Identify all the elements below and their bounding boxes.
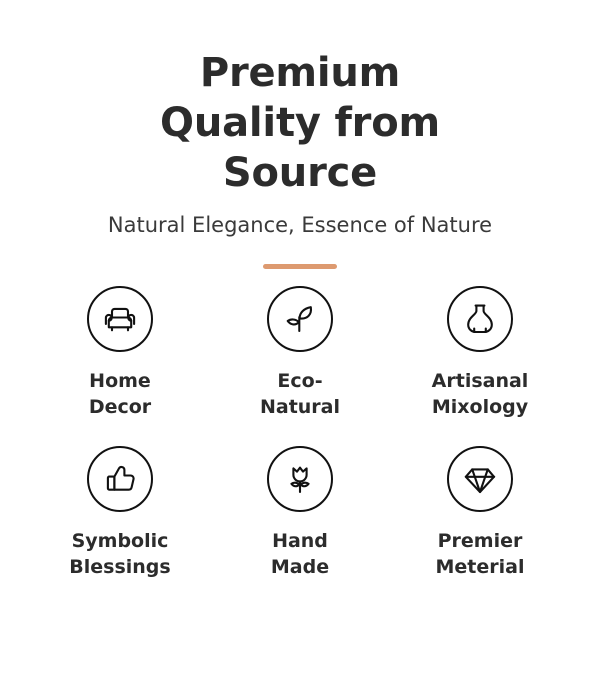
feature-label-line-2: Meterial <box>405 554 555 580</box>
feature-label-line-2: Blessings <box>45 554 195 580</box>
feature-label-line-2: Mixology <box>405 394 555 420</box>
feature-label-line-1: Home <box>45 368 195 394</box>
feature-item-hand-made: Hand Made <box>210 446 390 580</box>
page-subtitle: Natural Elegance, Essence of Nature <box>40 212 560 238</box>
sprout-leaf-icon <box>267 286 333 352</box>
feature-label-line-1: Artisanal <box>405 368 555 394</box>
feature-label-line-2: Decor <box>45 394 195 420</box>
feature-item-artisanal-mixology: Artisanal Mixology <box>390 286 570 420</box>
feature-label-line-1: Premier <box>405 528 555 554</box>
feature-label-line-2: Made <box>225 554 375 580</box>
tulip-flower-icon <box>267 446 333 512</box>
feature-label-line-1: Eco- <box>225 368 375 394</box>
feature-grid: Home Decor Eco- Natural <box>30 286 570 580</box>
headline-line-1: Premium <box>90 48 510 98</box>
headline-line-3: Source <box>90 148 510 198</box>
feature-label-line-1: Hand <box>225 528 375 554</box>
thumbs-up-icon <box>87 446 153 512</box>
feature-label-line-2: Natural <box>225 394 375 420</box>
diamond-gem-icon <box>447 446 513 512</box>
feature-label: Premier Meterial <box>405 528 555 580</box>
feature-label: Artisanal Mixology <box>405 368 555 420</box>
feature-item-home-decor: Home Decor <box>30 286 210 420</box>
accent-divider <box>263 264 337 269</box>
feature-item-eco-natural: Eco- Natural <box>210 286 390 420</box>
feature-label: Hand Made <box>225 528 375 580</box>
feature-label: Home Decor <box>45 368 195 420</box>
feature-item-symbolic-blessings: Symbolic Blessings <box>30 446 210 580</box>
promo-feature-panel: Premium Quality from Source Natural Eleg… <box>0 0 600 682</box>
divider-container <box>0 264 600 269</box>
page-title: Premium Quality from Source <box>90 48 510 198</box>
feature-label: Eco- Natural <box>225 368 375 420</box>
feature-item-premier-material: Premier Meterial <box>390 446 570 580</box>
feature-label-line-1: Symbolic <box>45 528 195 554</box>
armchair-icon <box>87 286 153 352</box>
vase-icon <box>447 286 513 352</box>
feature-label: Symbolic Blessings <box>45 528 195 580</box>
headline-line-2: Quality from <box>90 98 510 148</box>
